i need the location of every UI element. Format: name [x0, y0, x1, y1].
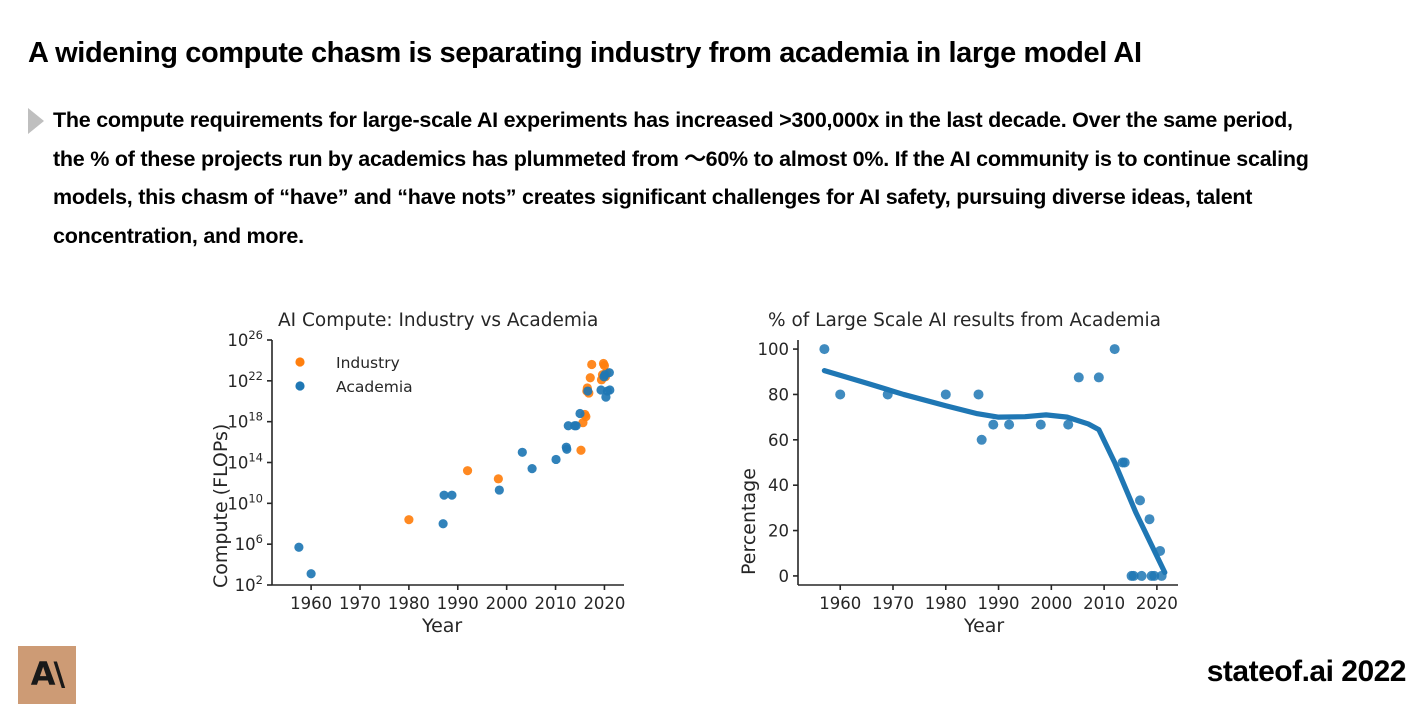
svg-text:1010: 1010 — [227, 491, 263, 513]
svg-text:2010: 2010 — [1083, 594, 1125, 613]
svg-text:1990: 1990 — [437, 594, 479, 613]
svg-text:1980: 1980 — [388, 594, 430, 613]
svg-text:20: 20 — [768, 522, 789, 541]
svg-text:2000: 2000 — [1030, 594, 1072, 613]
svg-text:1970: 1970 — [872, 594, 914, 613]
footer-brand: stateof.ai 2022 — [1207, 655, 1406, 689]
svg-text:2020: 2020 — [583, 594, 625, 613]
svg-text:80: 80 — [768, 385, 789, 404]
svg-text:2020: 2020 — [1136, 594, 1178, 613]
page-title: A widening compute chasm is separating i… — [28, 36, 1388, 71]
anthropic-logo-glyph: A\ — [31, 658, 63, 690]
svg-text:Industry: Industry — [336, 354, 400, 372]
svg-text:Academia: Academia — [336, 378, 413, 396]
svg-text:60: 60 — [768, 431, 789, 450]
chart-plot-right: 0204060801001960197019801990200020102020 — [726, 300, 1196, 645]
svg-text:106: 106 — [235, 532, 263, 554]
svg-text:1970: 1970 — [339, 594, 381, 613]
svg-text:1018: 1018 — [227, 410, 263, 432]
svg-text:2010: 2010 — [535, 594, 577, 613]
triangle-right-icon — [28, 108, 44, 134]
bullet-text: The compute requirements for large-scale… — [53, 101, 1323, 255]
svg-text:1980: 1980 — [925, 594, 967, 613]
svg-text:40: 40 — [768, 476, 789, 495]
svg-text:1960: 1960 — [290, 594, 332, 613]
chart-plot-left: 1021061010101410181022102619601970198019… — [196, 300, 636, 645]
svg-text:2000: 2000 — [486, 594, 528, 613]
svg-text:1022: 1022 — [227, 369, 263, 391]
chart-academia-share: % of Large Scale AI results from Academi… — [726, 300, 1196, 645]
bullet-block: The compute requirements for large-scale… — [28, 101, 1368, 255]
svg-text:102: 102 — [235, 573, 263, 595]
chart-ai-compute: AI Compute: Industry vs Academia Compute… — [196, 300, 636, 645]
svg-text:1014: 1014 — [227, 451, 263, 473]
svg-text:1026: 1026 — [227, 328, 263, 350]
svg-text:100: 100 — [758, 340, 790, 359]
anthropic-logo-icon: A\ — [18, 646, 76, 704]
svg-text:1960: 1960 — [819, 594, 861, 613]
svg-text:1990: 1990 — [978, 594, 1020, 613]
svg-text:0: 0 — [779, 567, 790, 586]
